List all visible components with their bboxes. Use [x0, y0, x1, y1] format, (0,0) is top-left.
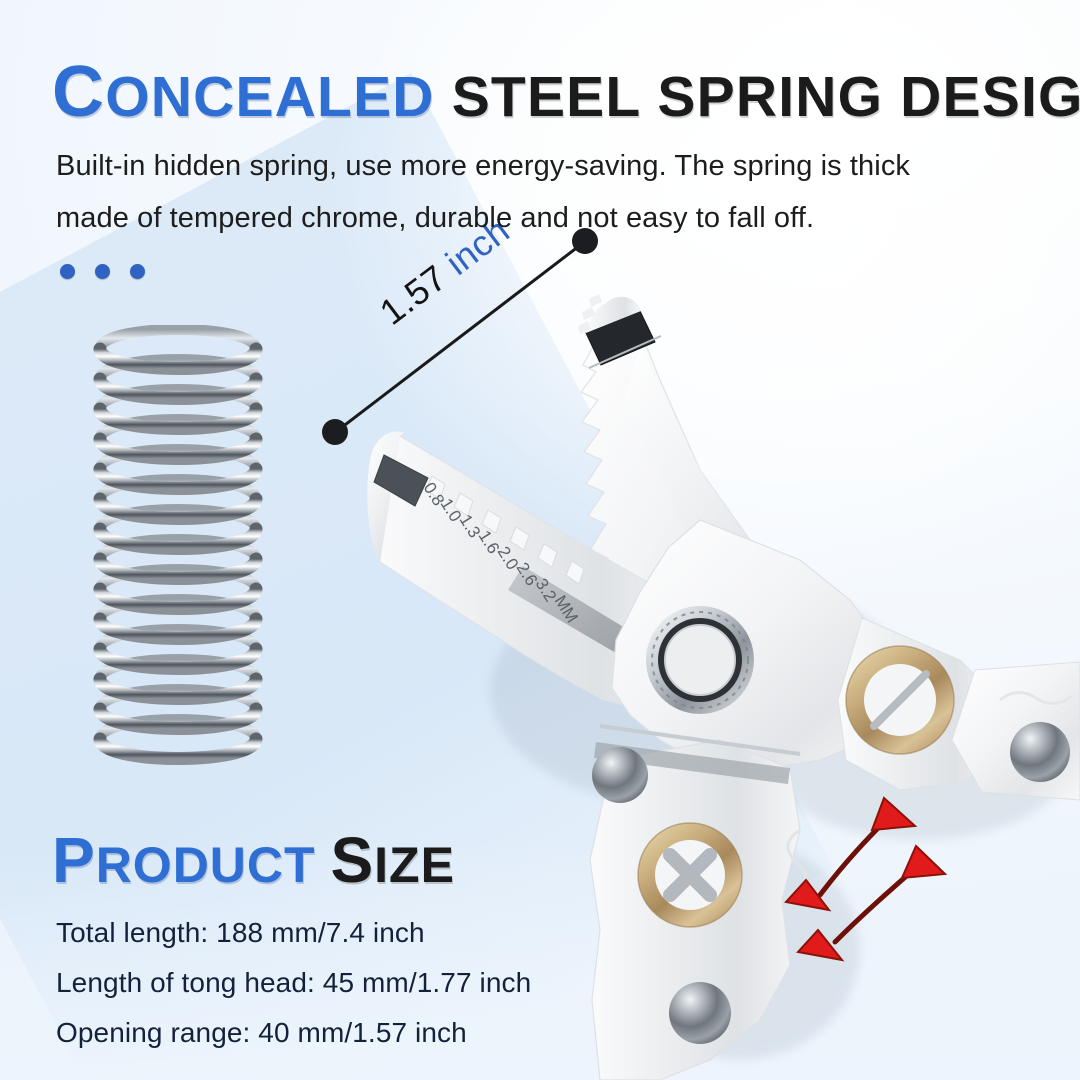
spec-tong-head-length: Length of tong head: 45 mm/1.77 inch [56, 958, 531, 1008]
description-text: Built-in hidden spring, use more energy-… [56, 140, 996, 244]
bullet-dots [60, 264, 145, 279]
description-line-1: Built-in hidden spring, use more energy-… [56, 140, 996, 192]
bullet-dot-1 [60, 264, 75, 279]
brass-rivet-phillips [638, 823, 742, 927]
chrome-ball-rivet-bottom [669, 982, 731, 1044]
spec-opening-range: Opening range: 40 mm/1.57 inch [56, 1008, 531, 1058]
size-word-size: IZE [374, 837, 455, 893]
page-title: CONCEALED STEEL SPRING DESIGN [52, 56, 1042, 128]
title-rest: STEEL SPRING DESIGN [452, 65, 1080, 129]
bullet-dot-2 [95, 264, 110, 279]
size-drop-cap-p: P [52, 824, 96, 896]
infographic-page: 0.8 1.0 1.3 1.6 2.0 2.6 3.2 MM [0, 0, 1080, 1080]
title-word-blue: ONCEALED [105, 65, 434, 129]
chrome-ball-rivet-right [1010, 722, 1070, 782]
brass-rivet-slot [846, 646, 954, 754]
chrome-ball-rivet-center [592, 747, 648, 803]
description-line-2: made of tempered chrome, durable and not… [56, 192, 996, 244]
bullet-dot-3 [130, 264, 145, 279]
center-pivot-screw [646, 606, 754, 714]
size-word-product: RODUCT [96, 837, 316, 893]
spec-total-length: Total length: 188 mm/7.4 inch [56, 908, 531, 958]
title-drop-cap: C [52, 52, 105, 132]
size-drop-cap-s: S [330, 824, 374, 896]
product-spec-list: Total length: 188 mm/7.4 inch Length of … [56, 908, 531, 1058]
product-size-heading: PRODUCT SIZE [52, 828, 455, 892]
